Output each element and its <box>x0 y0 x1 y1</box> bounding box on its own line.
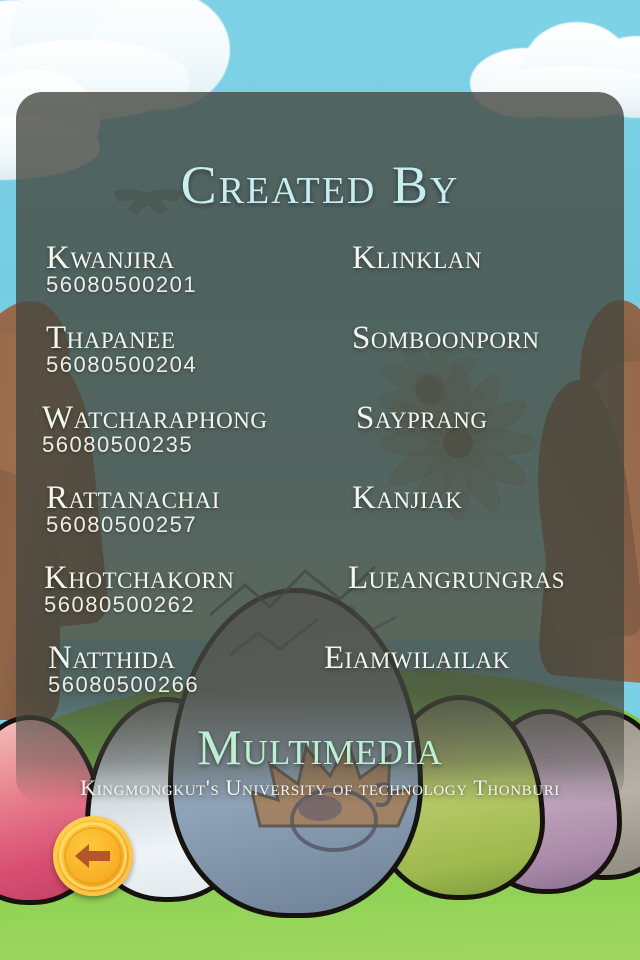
person-first-name: Khotchakorn <box>44 560 344 596</box>
credit-person-right: Kanjiak <box>352 480 640 516</box>
credit-row: Natthida 56080500266 Eiamwilailak <box>0 640 640 720</box>
person-student-id: 56080500235 <box>42 433 342 456</box>
person-student-id: 56080500201 <box>46 273 346 296</box>
credit-person-right: Sayprang <box>356 400 640 436</box>
credit-row: Thapanee 56080500204 Somboonporn <box>0 320 640 400</box>
program-name: Multimedia <box>0 720 640 774</box>
page-title: Created By <box>0 158 640 212</box>
person-last-name: Kanjiak <box>352 480 640 516</box>
credit-person-left: Watcharaphong 56080500235 <box>42 400 342 456</box>
credits-list: Kwanjira 56080500201 Klinklan Thapanee 5… <box>0 240 640 720</box>
person-last-name: Lueangrungras <box>348 560 636 596</box>
credit-person-right: Lueangrungras <box>348 560 636 596</box>
person-first-name: Watcharaphong <box>42 400 342 436</box>
footer-block: Multimedia Kingmongkut's University of t… <box>0 720 640 801</box>
person-student-id: 56080500266 <box>48 673 348 696</box>
credit-person-right: Eiamwilailak <box>324 640 612 676</box>
credit-person-left: Thapanee 56080500204 <box>46 320 346 376</box>
person-student-id: 56080500262 <box>44 593 344 616</box>
back-button[interactable] <box>53 816 133 896</box>
arrow-left-icon <box>73 841 113 871</box>
credit-person-left: Khotchakorn 56080500262 <box>44 560 344 616</box>
person-student-id: 56080500204 <box>46 353 346 376</box>
person-student-id: 56080500257 <box>46 513 346 536</box>
credits-screen: Created By Kwanjira 56080500201 Klinklan… <box>0 0 640 960</box>
person-last-name: Sayprang <box>356 400 640 436</box>
person-last-name: Klinklan <box>352 240 640 276</box>
person-first-name: Rattanachai <box>46 480 346 516</box>
credit-person-right: Klinklan <box>352 240 640 276</box>
credit-person-left: Natthida 56080500266 <box>48 640 348 696</box>
person-last-name: Eiamwilailak <box>324 640 612 676</box>
credit-row: Watcharaphong 56080500235 Sayprang <box>0 400 640 480</box>
person-first-name: Natthida <box>48 640 348 676</box>
credit-row: Khotchakorn 56080500262 Lueangrungras <box>0 560 640 640</box>
person-last-name: Somboonporn <box>352 320 640 356</box>
credit-row: Kwanjira 56080500201 Klinklan <box>0 240 640 320</box>
credit-row: Rattanachai 56080500257 Kanjiak <box>0 480 640 560</box>
credit-person-left: Kwanjira 56080500201 <box>46 240 346 296</box>
credit-person-right: Somboonporn <box>352 320 640 356</box>
person-first-name: Kwanjira <box>46 240 346 276</box>
person-first-name: Thapanee <box>46 320 346 356</box>
institution-name: Kingmongkut's University of technology T… <box>0 775 640 801</box>
credit-person-left: Rattanachai 56080500257 <box>46 480 346 536</box>
